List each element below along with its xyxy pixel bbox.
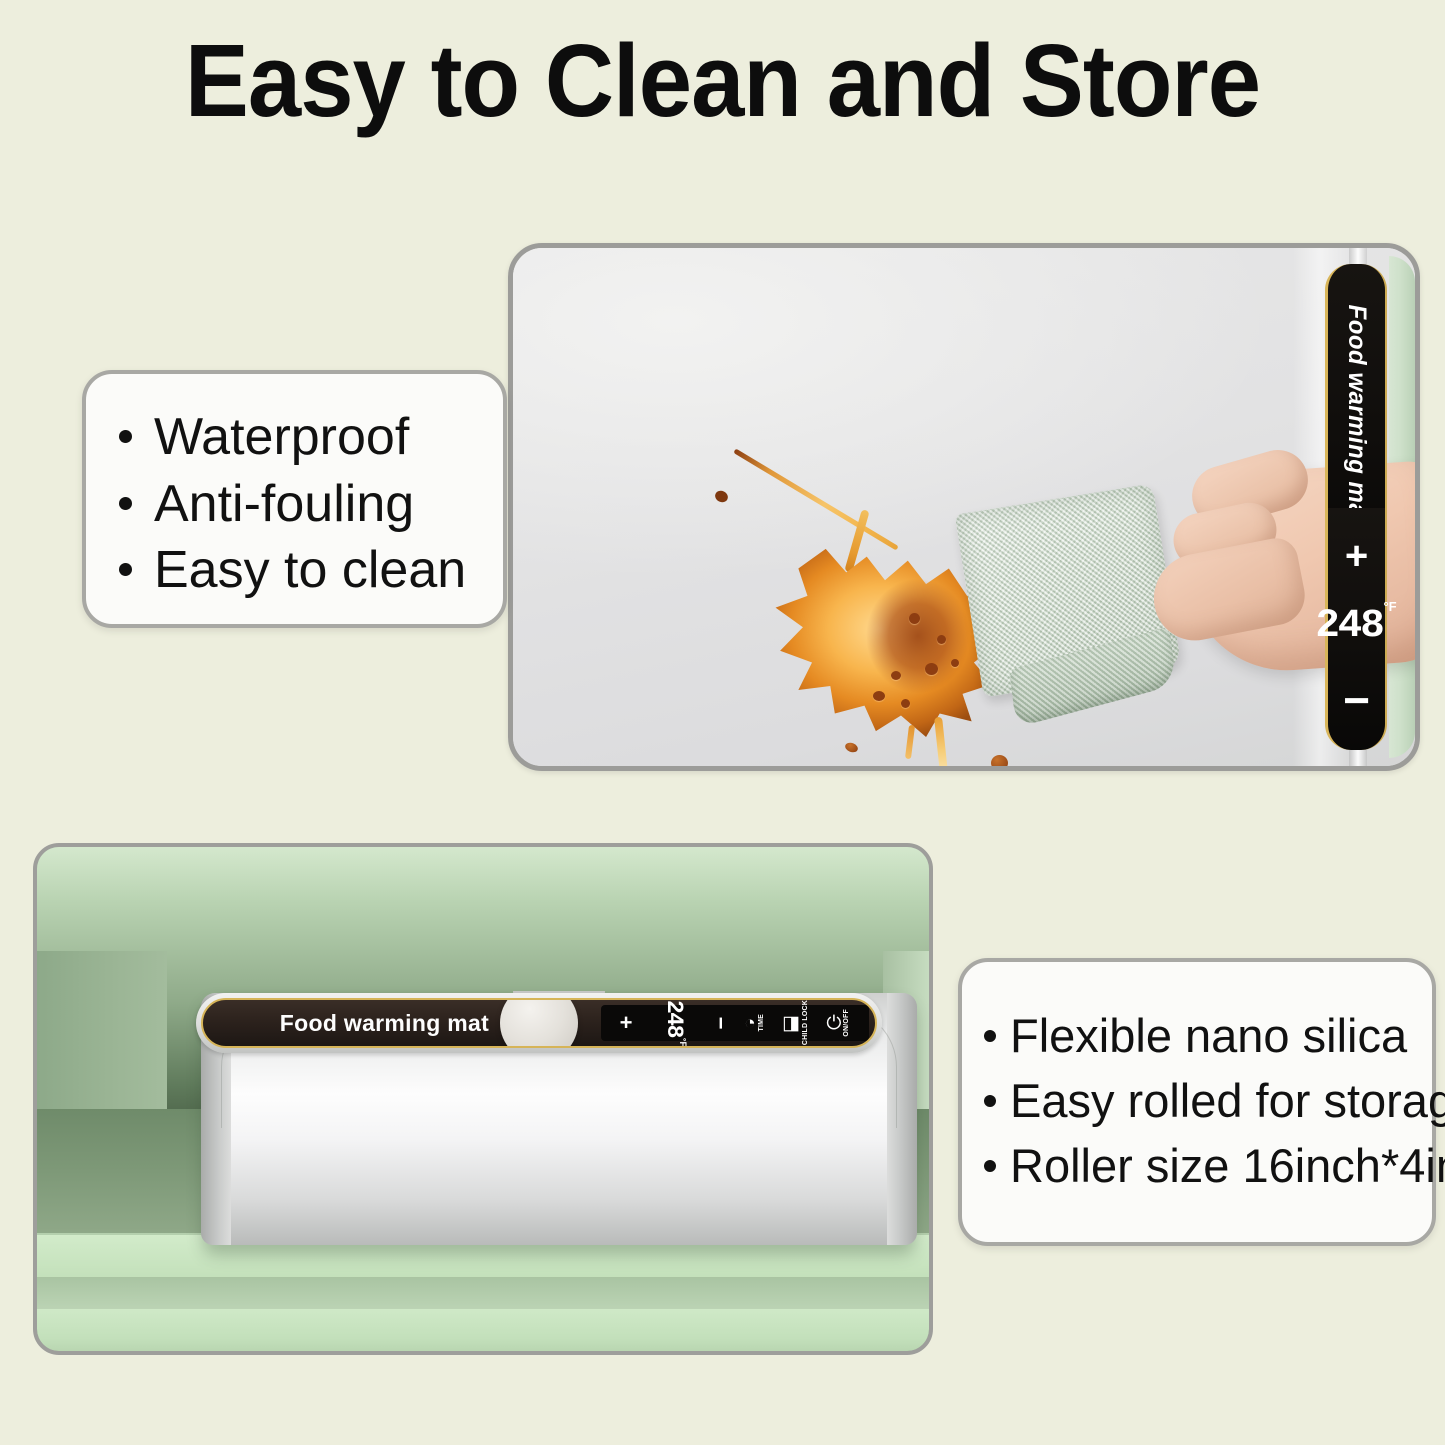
bullet-dot-icon <box>119 563 132 576</box>
bullet-dot-icon <box>984 1095 996 1107</box>
control-panel[interactable]: + 248 °F − ◔ TIME ◨ CHILD LOCK ⏻ ON/OFF <box>601 1005 869 1041</box>
brand-label: Food warming mat <box>280 1010 489 1037</box>
stain-speck <box>951 659 959 667</box>
list-item-label: Roller size 16inch*4inch <box>1010 1134 1445 1199</box>
child-lock-button[interactable]: ◨ CHILD LOCK <box>782 1000 809 1045</box>
bullet-dot-icon <box>984 1030 996 1042</box>
cleaning-cloth <box>955 483 1181 697</box>
temperature-unit: °F <box>1383 599 1396 614</box>
features-card-right: Flexible nano silica Easy rolled for sto… <box>958 958 1436 1246</box>
clock-icon: ◔ <box>744 1014 755 1033</box>
brand-label: Food warming mat <box>1342 304 1371 525</box>
stain-speck <box>873 691 885 701</box>
bullet-dot-icon <box>119 430 132 443</box>
increase-temp-button[interactable]: + <box>1345 544 1368 568</box>
stain-speck <box>891 671 901 680</box>
child-lock-label: CHILD LOCK <box>802 1000 809 1045</box>
list-item: Flexible nano silica <box>984 1004 1432 1069</box>
features-card-left: Waterproof Anti-fouling Easy to clean <box>82 370 507 628</box>
stain-speck <box>925 663 938 675</box>
drawer-front-edge <box>37 1309 929 1351</box>
control-bar[interactable]: Food warming mat + 248 °F − ◔ TIME ◨ CHI… <box>196 993 882 1053</box>
decrease-temp-button[interactable]: − <box>1343 687 1370 715</box>
temperature-display: 248 °F <box>1316 607 1396 647</box>
timer-label: TIME <box>758 1014 765 1032</box>
rolled-mat-in-drawer-photo <box>33 843 933 1355</box>
stain-speck <box>909 613 920 624</box>
control-bar-inner: Food warming mat + 248 °F − ◔ TIME ◨ CHI… <box>201 998 877 1048</box>
temperature-unit: °F <box>678 1037 688 1046</box>
list-item: Roller size 16inch*4inch <box>984 1134 1432 1199</box>
center-knob[interactable] <box>500 998 578 1048</box>
feature-list: Waterproof Anti-fouling Easy to clean <box>119 404 503 604</box>
list-item-label: Waterproof <box>154 404 409 471</box>
list-item: Easy rolled for storage <box>984 1069 1432 1134</box>
temperature-value: 248 <box>662 999 685 1036</box>
stain-speck <box>901 699 910 708</box>
increase-temp-button[interactable]: + <box>620 1012 633 1034</box>
bullet-dot-icon <box>984 1160 996 1172</box>
power-button[interactable]: ⏻ ON/OFF <box>826 1009 850 1037</box>
decrease-temp-button[interactable]: − <box>710 1017 732 1030</box>
list-item: Easy to clean <box>119 537 503 604</box>
stain-droplet <box>844 741 859 754</box>
list-item: Anti-fouling <box>119 471 503 538</box>
stain-drip <box>934 717 948 771</box>
feature-list: Flexible nano silica Easy rolled for sto… <box>984 1004 1432 1199</box>
bullet-dot-icon <box>119 497 132 510</box>
stain-drip <box>905 725 915 759</box>
list-item-label: Easy to clean <box>154 537 466 604</box>
drawer-front-edge <box>37 1277 929 1311</box>
mat-being-wiped-photo: Food warming mat + 248 °F − <box>508 243 1420 771</box>
stain-speck <box>937 635 946 644</box>
power-icon: ⏻ <box>826 1014 841 1033</box>
stain-droplet <box>991 755 1008 771</box>
page-title: Easy to Clean and Store <box>51 22 1395 140</box>
list-item-label: Flexible nano silica <box>1010 1004 1407 1069</box>
list-item: Waterproof <box>119 404 503 471</box>
timer-button[interactable]: ◔ TIME <box>744 1014 764 1033</box>
power-label: ON/OFF <box>843 1009 850 1037</box>
temperature-value: 248 <box>1316 607 1383 647</box>
list-item-label: Easy rolled for storage <box>1010 1069 1445 1134</box>
control-panel[interactable]: + 248 °F − <box>1325 508 1387 750</box>
temperature-display: 248 °F <box>662 999 685 1046</box>
list-item-label: Anti-fouling <box>154 471 414 538</box>
lock-icon: ◨ <box>782 1014 800 1033</box>
